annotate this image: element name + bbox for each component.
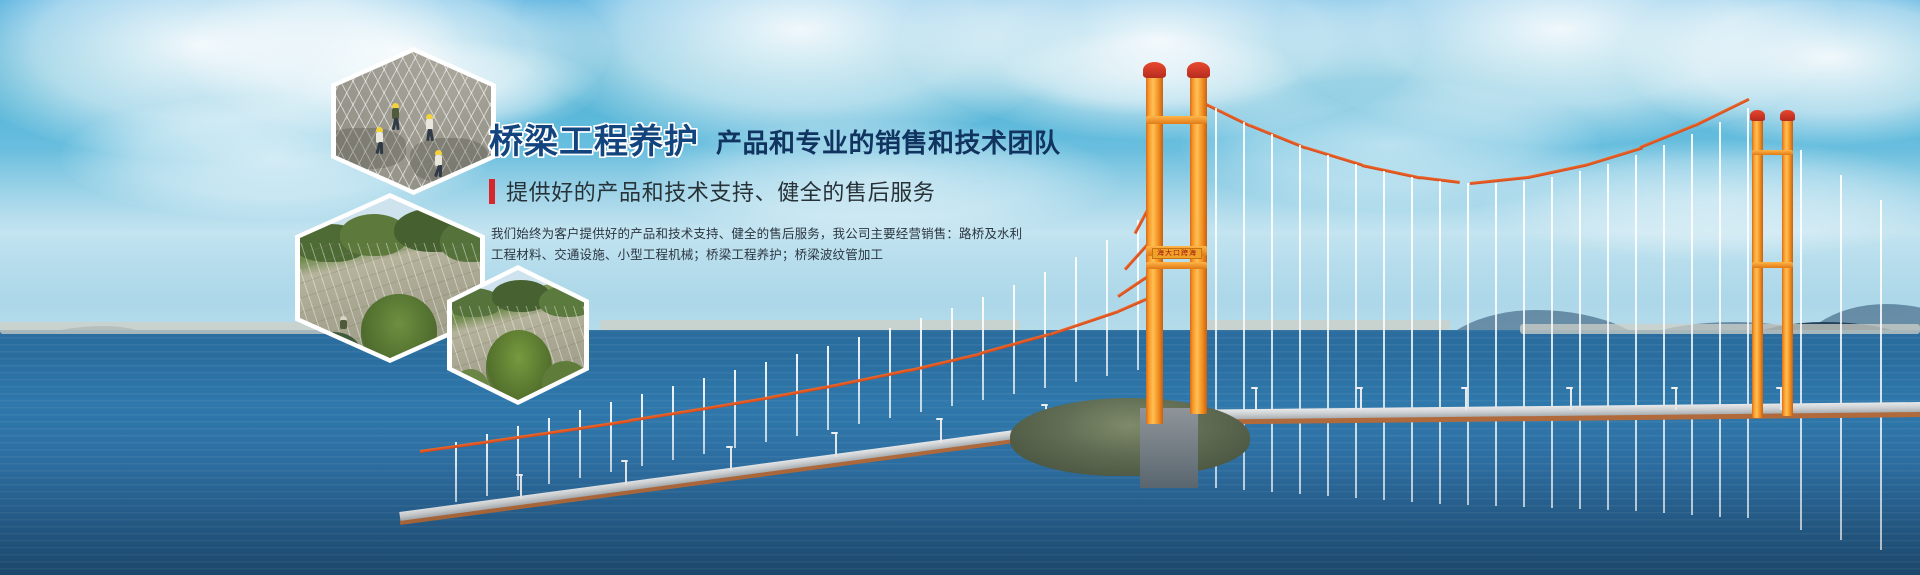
tower-sign-text: 海大口跨海 [1152,248,1202,259]
body-line-1: 我们始终为客户提供好的产品和技术支持、健全的售后服务，我公司主要经营销售：路桥及… [491,224,1049,245]
subtitle-text: 提供好的产品和技术支持、健全的售后服务 [506,175,935,207]
sea-background [0,330,1920,575]
subtitle-row: 提供好的产品和技术支持、健全的售后服务 [489,175,1049,207]
bridge-islet [1010,398,1250,476]
headline-sub: 产品和专业的销售和技术团队 [716,126,1061,162]
shoreline [600,320,1020,330]
accent-bar [489,179,495,204]
hex-photo-1[interactable] [331,47,496,195]
headline-main: 桥梁工程养护 [489,122,699,162]
hero-banner: 海大口跨海 [0,0,1920,575]
hex-photo-3[interactable] [447,265,589,405]
headline-row: 桥梁工程养护 产品和专业的销售和技术团队 [489,122,1049,162]
body-paragraph: 我们始终为客户提供好的产品和技术支持、健全的售后服务，我公司主要经营销售：路桥及… [491,224,1049,266]
body-line-2: 工程材料、交通设施、小型工程机械；桥梁工程养护；桥梁波纹管加工 [491,245,1049,266]
shoreline [0,322,330,334]
banner-text-block: 桥梁工程养护 产品和专业的销售和技术团队 提供好的产品和技术支持、健全的售后服务… [489,122,1049,266]
